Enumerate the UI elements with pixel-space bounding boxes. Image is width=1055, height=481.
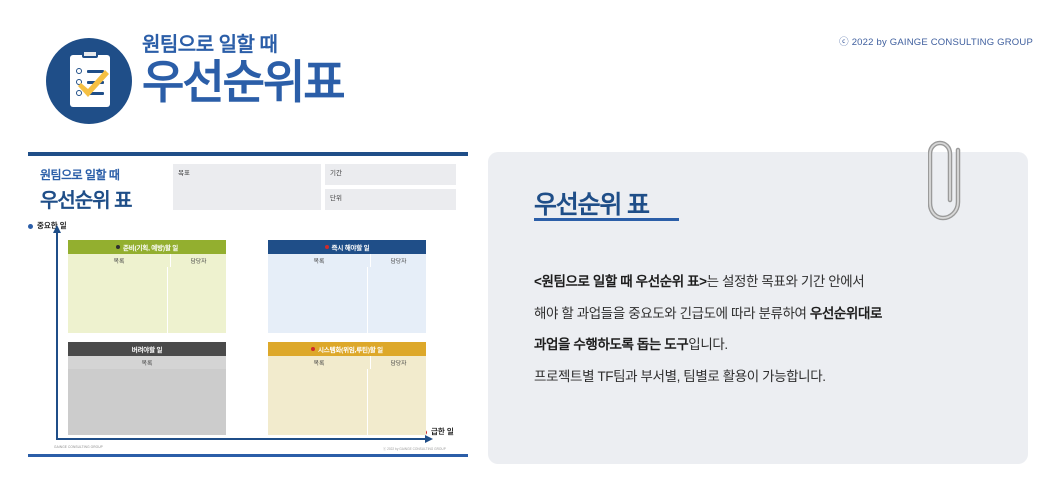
axis-vertical [56, 232, 58, 440]
goal-field-label: 목표 [178, 167, 190, 177]
column-header-list: 목록 [268, 254, 371, 267]
description-line-1: <원팀으로 일할 때 우선순위 표>는 설정한 목표와 기간 안에서 [534, 266, 989, 298]
quadrant-prepare-columns: 목록 담당자 [68, 254, 226, 267]
goal-field[interactable]: 목표 [173, 164, 321, 210]
copyright-notice: ⓒ 2022 by GAINGE CONSULTING GROUP [839, 34, 1033, 48]
page-subtitle: 원팀으로 일할 때 [142, 34, 344, 56]
unit-field[interactable]: 단위 [325, 189, 456, 210]
panel-top-rule [28, 152, 468, 156]
description-line-3-bold: 과업을 수행하도록 돕는 도구 [534, 337, 688, 352]
quadrant-discard-columns: 목록 [68, 356, 226, 369]
panel-bottom-rule [28, 454, 468, 457]
quadrant-immediate-body[interactable] [268, 267, 426, 333]
description-paragraph: <원팀으로 일할 때 우선순위 표>는 설정한 목표와 기간 안에서 해야 할 … [534, 266, 989, 393]
quadrant-systemize-columns: 목록 담당자 [268, 356, 426, 369]
axis-horizontal [56, 438, 426, 440]
page-header: 원팀으로 일할 때 우선순위표 ⓒ 2022 by GAINGE CONSULT… [0, 0, 1055, 140]
template-footer-copyright: ⓒ 2022 by GAINGE CONSULTING GROUP [383, 446, 446, 451]
template-title: 원팀으로 일할 때 우선순위 표 [40, 166, 132, 213]
importance-bullet-icon [28, 224, 33, 229]
page-title-main: 우선순위표 [142, 58, 344, 106]
description-line-3-rest: 입니다. [688, 337, 727, 352]
description-line-2-bold: 우선순위대로 [810, 306, 882, 321]
quadrant-discard-body[interactable] [68, 369, 226, 435]
column-header-list: 목록 [68, 356, 226, 369]
template-title-main: 우선순위 표 [40, 184, 132, 213]
quadrant-discard-header: 버려야할 일 [68, 342, 226, 356]
slide-canvas: 원팀으로 일할 때 우선순위표 ⓒ 2022 by GAINGE CONSULT… [0, 0, 1055, 481]
quadrant-systemize-dot-icon [311, 347, 315, 351]
axis-label-importance: 중요한 일 [28, 220, 67, 231]
template-form-fields: 목표 기간 단위 [173, 164, 456, 210]
column-header-list: 목록 [68, 254, 171, 267]
quadrant-systemize-body[interactable] [268, 369, 426, 435]
paperclip-icon [928, 140, 972, 228]
priority-matrix-template: 원팀으로 일할 때 우선순위 표 목표 기간 단위 중요한 일 급한 일 [28, 152, 468, 457]
unit-field-label: 단위 [330, 192, 342, 202]
quadrant-prepare-dot-icon [116, 245, 120, 249]
quadrant-prepare[interactable]: 준비(기획, 예방)할 일 목록 담당자 [68, 240, 226, 333]
column-header-list: 목록 [268, 356, 371, 369]
check-badge-icon [76, 68, 110, 98]
template-footer-left: GAINGE CONSULTING GROUP [54, 445, 103, 449]
quadrant-systemize-header: 시스템화(위임,루틴)할 일 [268, 342, 426, 356]
quadrant-immediate-columns: 목록 담당자 [268, 254, 426, 267]
quadrant-immediate[interactable]: 즉시 해야할 일 목록 담당자 [268, 240, 426, 333]
quadrant-systemize[interactable]: 시스템화(위임,루틴)할 일 목록 담당자 [268, 342, 426, 435]
period-field-label: 기간 [330, 167, 342, 177]
quadrant-discard[interactable]: 버려야할 일 목록 [68, 342, 226, 435]
page-title: 원팀으로 일할 때 우선순위표 [142, 34, 344, 106]
description-line-3: 과업을 수행하도록 돕는 도구입니다. [534, 329, 989, 361]
template-subtitle: 원팀으로 일할 때 [40, 166, 132, 183]
description-line-2-lead: 해야 할 과업들을 중요도와 긴급도에 따라 분류하여 [534, 306, 810, 321]
column-header-owner: 담당자 [371, 356, 426, 369]
quadrant-immediate-dot-icon [325, 245, 329, 249]
description-title: 우선순위 표 [534, 185, 649, 221]
description-title-underline [534, 218, 679, 221]
description-line-2: 해야 할 과업들을 중요도와 긴급도에 따라 분류하여 우선순위대로 [534, 298, 989, 330]
column-header-owner: 담당자 [171, 254, 226, 267]
quadrant-prepare-body[interactable] [68, 267, 226, 333]
description-line-1-bold: <원팀으로 일할 때 우선순위 표> [534, 274, 707, 289]
clipboard-check-icon [46, 38, 132, 124]
quadrant-prepare-header: 준비(기획, 예방)할 일 [68, 240, 226, 254]
period-field[interactable]: 기간 [325, 164, 456, 185]
quadrant-immediate-header: 즉시 해야할 일 [268, 240, 426, 254]
description-card: 우선순위 표 <원팀으로 일할 때 우선순위 표>는 설정한 목표와 기간 안에… [488, 152, 1028, 464]
column-header-owner: 담당자 [371, 254, 426, 267]
description-line-4: 프로젝트별 TF팀과 부서별, 팀별로 활용이 가능합니다. [534, 361, 989, 393]
description-line-1-rest: 는 설정한 목표와 기간 안에서 [707, 274, 865, 289]
